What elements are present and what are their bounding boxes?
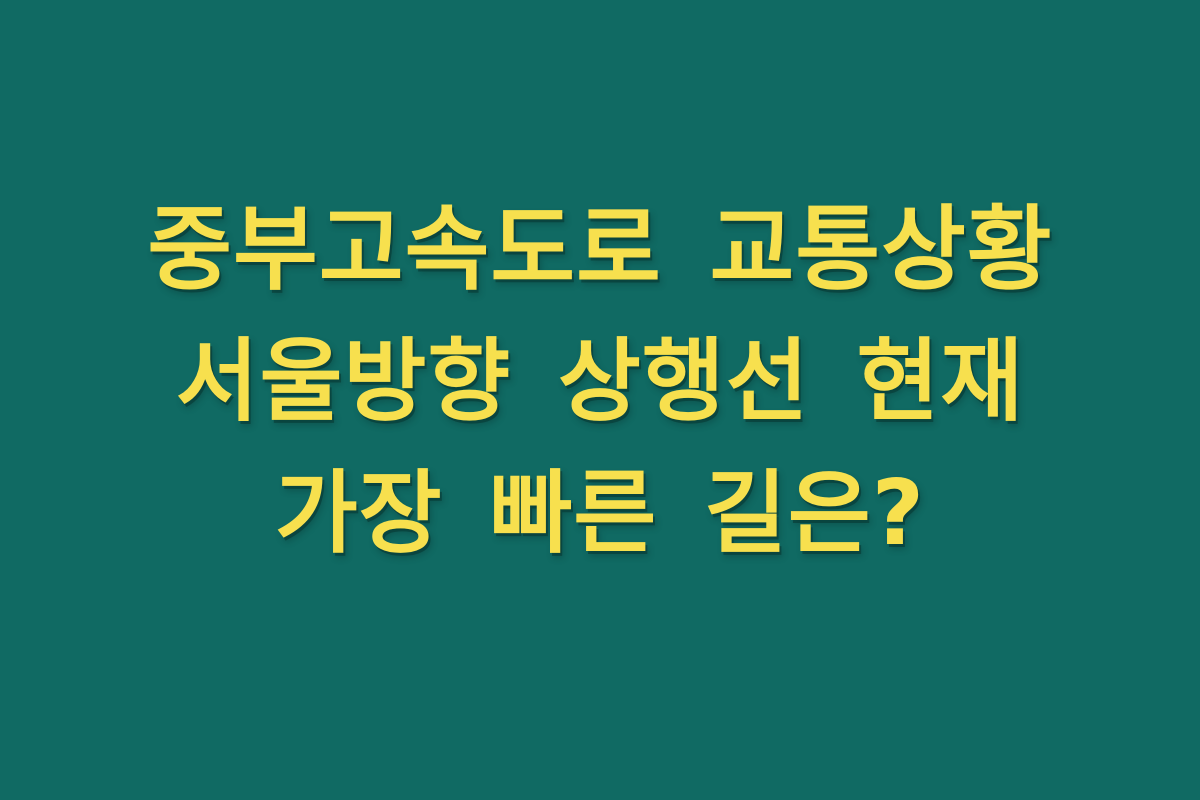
headline-line-1: 중부고속도로 교통상황	[0, 184, 1200, 316]
text-card: 중부고속도로 교통상황 서울방향 상행선 현재 가장 빠른 길은?	[0, 0, 1200, 800]
headline-line-2: 서울방향 상행선 현재	[0, 316, 1200, 448]
headline-line-3: 가장 빠른 길은?	[0, 448, 1200, 580]
headline-block: 중부고속도로 교통상황 서울방향 상행선 현재 가장 빠른 길은?	[0, 184, 1200, 580]
